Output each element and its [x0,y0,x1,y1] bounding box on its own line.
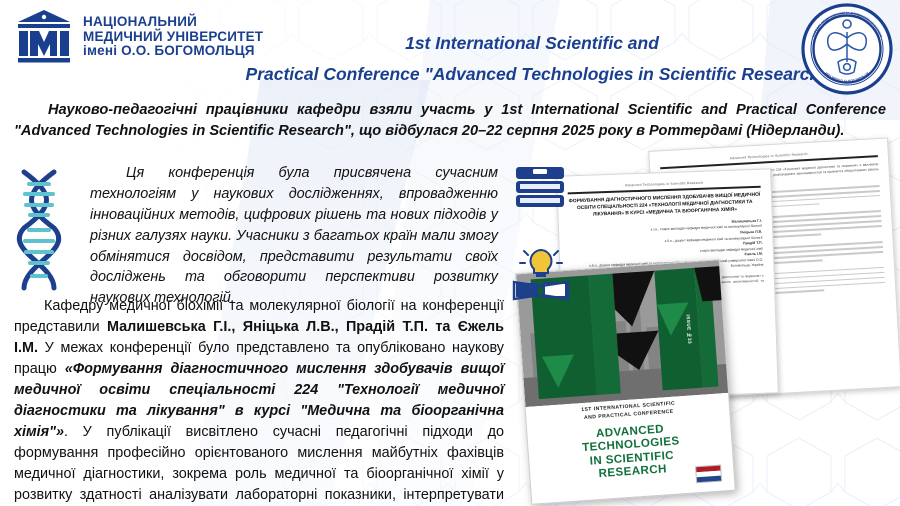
page-header: НАЦІОНАЛЬНИЙ МЕДИЧНИЙ УНІВЕРСИТЕТ імені … [0,0,900,96]
dna-helix-icon [8,168,70,292]
cover-date-place: AUGUST 20-22, 2025ROTTERDAM, NETHERLANDS [532,488,736,505]
lightbulb-over-open-book-icon [512,245,570,301]
stack-of-books-icon [512,163,568,215]
university-logo: НАЦІОНАЛЬНИЙ МЕДИЧНИЙ УНІВЕРСИТЕТ імені … [14,8,263,66]
conference-title: 1st International Scientific and Practic… [232,28,832,89]
paragraph-department-participation: Кафедру медичної біохімії та молекулярно… [14,296,504,506]
para3-part3: . У публікації висвітлено сучасні педаго… [14,424,504,506]
paper-title: ФОРМУВАННЯ ДІАГНОСТИЧНОГО МИСЛЕННЯ ЗДОБУ… [567,191,763,220]
intro-paragraph: Науково-педагогічні працівники кафедри в… [14,100,886,141]
conference-title-line-1: 1st International Scientific and [405,33,659,53]
paragraph-conference-description: Ця конференція була присвячена сучасним … [90,163,498,309]
department-seal-emblem-icon: КАФЕДРА МЕДИЧНОЇ ХІМІЇ ТА МОЛЕКУЛЯРНОЇ Б… [800,2,894,96]
netherlands-flag-icon [695,465,722,484]
cover-text-block: 1ST INTERNATIONAL SCIENTIFICAND PRACTICA… [526,397,736,505]
conference-title-line-2: Practical Conference "Advanced Technolog… [242,59,832,90]
nmu-building-logo-icon [14,8,74,66]
